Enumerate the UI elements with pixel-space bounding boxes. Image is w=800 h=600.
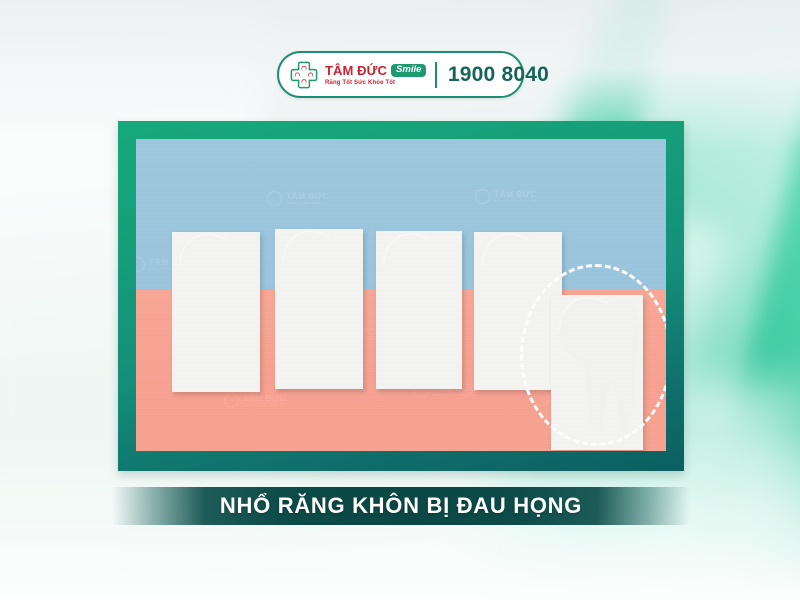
poster-canvas: TÂM ĐỨC Smile Răng Tốt Sức Khỏe Tốt 1900… <box>0 0 800 600</box>
molar-tooth-2 <box>275 229 363 389</box>
brand-name-row: TÂM ĐỨC Smile <box>325 64 426 77</box>
wisdom-tooth-highlight-circle <box>520 264 666 446</box>
photo-frame: TÂM ĐỨC Răng Tốt Sức Khỏe Tốt TÂM ĐỨC Ră… <box>118 121 684 471</box>
brand-wordmark: TÂM ĐỨC Smile Răng Tốt Sức Khỏe Tốt <box>325 64 426 86</box>
brand-contact-badge[interactable]: TÂM ĐỨC Smile Răng Tốt Sức Khỏe Tốt 1900… <box>277 51 524 98</box>
title-banner: NHỔ RĂNG KHÔN BỊ ĐAU HỌNG <box>112 487 690 525</box>
brand-name: TÂM ĐỨC <box>325 64 387 77</box>
badge-divider <box>435 62 437 88</box>
molar-tooth-3 <box>376 231 462 389</box>
brand-tagline: Răng Tốt Sức Khỏe Tốt <box>325 80 426 86</box>
hotline-number[interactable]: 1900 8040 <box>448 63 549 87</box>
banner-title: NHỔ RĂNG KHÔN BỊ ĐAU HỌNG <box>220 493 582 519</box>
brand-smile-tag: Smile <box>391 64 426 77</box>
clover-cross-dental-logo-icon <box>289 60 319 90</box>
dental-illustration-photo: TÂM ĐỨC Răng Tốt Sức Khỏe Tốt TÂM ĐỨC Ră… <box>136 139 666 451</box>
molar-tooth-1 <box>172 232 260 392</box>
brand-identity: TÂM ĐỨC Smile Răng Tốt Sức Khỏe Tốt <box>289 60 426 90</box>
